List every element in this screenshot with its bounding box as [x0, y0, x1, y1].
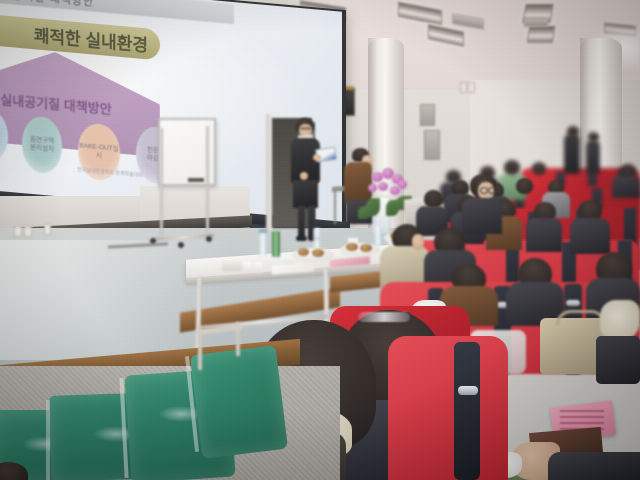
water-bottle [313, 228, 321, 250]
presenter-hand [313, 154, 321, 161]
caster-wheel-icon [178, 242, 184, 248]
wall-plate [420, 104, 435, 126]
wall-plate [424, 130, 440, 160]
handbag-strap [556, 310, 606, 325]
green-tea-bottle [272, 231, 280, 257]
attendee-head [588, 132, 599, 142]
paper-cup [254, 262, 263, 273]
flower-petal-icon [378, 182, 388, 191]
attendee-torso [526, 218, 562, 252]
seat-trim-clip [566, 300, 580, 306]
standing-attendee [586, 140, 600, 174]
seat-trim-clip [458, 386, 478, 395]
flower-leaf-icon [358, 206, 372, 219]
water-bottle [259, 232, 267, 256]
attendee-head [504, 160, 520, 175]
black-handbag[interactable] [596, 336, 640, 384]
attendee-torso [612, 176, 640, 198]
glasses-icon [480, 187, 488, 194]
attendee-head [567, 126, 579, 137]
slide-oval-label: BAKE-OUT실시 [78, 142, 120, 162]
food-item [360, 244, 372, 252]
presenter-glasses-icon [300, 127, 311, 130]
seat-side-panel [454, 342, 480, 480]
staff-jacket [344, 162, 372, 204]
food-item [312, 249, 324, 257]
glasses-icon [488, 187, 496, 194]
presenter-leg [298, 206, 305, 238]
flower-petal-icon [398, 180, 407, 189]
water-bottle [374, 226, 382, 246]
red-auditorium-seats[interactable] [388, 336, 508, 480]
caster-wheel-icon [206, 236, 212, 242]
presenter-shoe [296, 236, 307, 241]
bottle-cap-icon [259, 229, 267, 233]
slide-oval-label: 흡연구역 분리설치 [30, 136, 54, 154]
wall-outlet-icon [44, 224, 51, 235]
food-item [298, 248, 309, 256]
photo-canvas: 표회 표회 ○○대학교 환경공학과 실내공기질 대책방안 쾌적한 실내환경 실내… [0, 0, 640, 480]
attendee-sleeve [548, 452, 640, 480]
presenter-hand [300, 172, 308, 180]
food-item [346, 243, 358, 251]
seat-gap [46, 400, 50, 480]
presenter-skirt [293, 180, 318, 208]
ceiling-vent-icon [524, 18, 548, 27]
whiteboard-stand-leg [160, 128, 163, 240]
whiteboard-stand-leg [206, 126, 209, 238]
green-bench-seats[interactable] [190, 345, 288, 459]
attendee-torso [462, 198, 502, 234]
attendee-torso [570, 218, 610, 254]
table-object [222, 258, 242, 271]
attendee-face [412, 234, 424, 250]
standing-attendee [564, 134, 580, 174]
wall-outlet-icon [14, 226, 22, 237]
folding-chair-leg [334, 190, 336, 224]
wall-outlet-icon [460, 82, 467, 93]
wall-outlet-icon [468, 82, 475, 93]
wall-outlet-icon [24, 226, 32, 237]
white-cloth [600, 300, 640, 340]
whiteboard-marker-tray [188, 178, 204, 182]
attendee-head [516, 178, 533, 194]
hairband-icon [358, 312, 410, 322]
ceiling-light-icon [527, 26, 555, 43]
chair-frame [198, 330, 202, 370]
paper-cup [243, 262, 252, 273]
attendee-head [532, 162, 546, 175]
flower-petal-icon [368, 184, 377, 192]
